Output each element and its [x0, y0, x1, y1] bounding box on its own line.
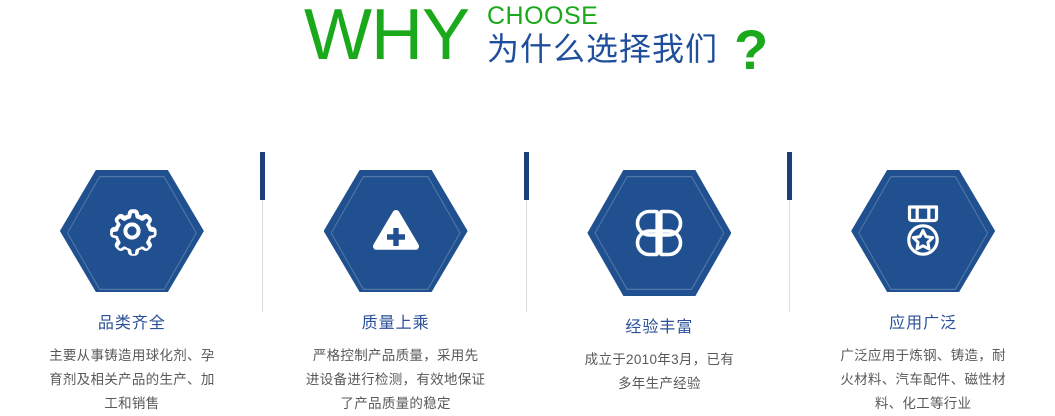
feature-description-1: 主要从事铸造用球化剂、孕 育剂及相关产品的生产、加 工和销售 [24, 344, 239, 416]
feature-title-3: 经验丰富 [625, 318, 693, 338]
hexagon-badge-2 [324, 170, 468, 292]
feature-description-4: 广泛应用于炼钢、铸造，耐 火材料、汽车配件、磁性材 料、化工等行业 [816, 344, 1031, 416]
divider-grey-line [262, 200, 263, 312]
desc-line: 广泛应用于炼钢、铸造，耐 [816, 344, 1031, 368]
feature-column-1: 品类齐全 主要从事铸造用球化剂、孕 育剂及相关产品的生产、加 工和销售 [0, 140, 264, 416]
desc-line: 育剂及相关产品的生产、加 [24, 368, 239, 392]
triangle-plus-icon [324, 170, 468, 292]
section-heading: WHY CHOOSE 为什么选择我们 ? [0, 0, 1055, 92]
medal-icon [851, 170, 995, 292]
feature-columns: 品类齐全 主要从事铸造用球化剂、孕 育剂及相关产品的生产、加 工和销售 质量上乘 [0, 140, 1055, 416]
desc-line: 工和销售 [24, 392, 239, 416]
hexagon-badge-4 [851, 170, 995, 292]
heading-inner: WHY CHOOSE 为什么选择我们 ? [304, 0, 768, 80]
divider-grey-line [526, 200, 527, 312]
feature-column-4: 应用广泛 广泛应用于炼钢、铸造，耐 火材料、汽车配件、磁性材 料、化工等行业 [791, 140, 1055, 416]
heading-why-word: WHY [304, 0, 469, 72]
feature-column-3: 经验丰富 成立于2010年3月，已有 多年生产经验 [528, 140, 792, 416]
heading-choose-word: CHOOSE [487, 2, 718, 30]
desc-line: 严格控制产品质量，采用先 [288, 344, 503, 368]
desc-line: 成立于2010年3月，已有 [552, 348, 767, 372]
gear-icon [60, 170, 204, 292]
heading-chinese-title: 为什么选择我们 [487, 30, 718, 68]
feature-title-1: 品类齐全 [98, 314, 166, 334]
heading-middle-stack: CHOOSE 为什么选择我们 [487, 2, 718, 68]
desc-line: 多年生产经验 [552, 372, 767, 396]
feature-title-2: 质量上乘 [362, 314, 430, 334]
feature-description-3: 成立于2010年3月，已有 多年生产经验 [552, 348, 767, 396]
heading-question-mark: ? [734, 20, 768, 80]
desc-line: 进设备进行检测，有效地保证 [288, 368, 503, 392]
divider-grey-line [789, 200, 790, 312]
feature-description-2: 严格控制产品质量，采用先 进设备进行检测，有效地保证 了产品质量的稳定 [288, 344, 503, 416]
hexagon-badge-3 [587, 170, 731, 296]
clover-icon [587, 170, 731, 296]
hexagon-badge-1 [60, 170, 204, 292]
desc-line: 料、化工等行业 [816, 392, 1031, 416]
feature-column-2: 质量上乘 严格控制产品质量，采用先 进设备进行检测，有效地保证 了产品质量的稳定 [264, 140, 528, 416]
desc-line: 了产品质量的稳定 [288, 392, 503, 416]
feature-title-4: 应用广泛 [889, 314, 957, 334]
desc-line: 主要从事铸造用球化剂、孕 [24, 344, 239, 368]
desc-line: 火材料、汽车配件、磁性材 [816, 368, 1031, 392]
